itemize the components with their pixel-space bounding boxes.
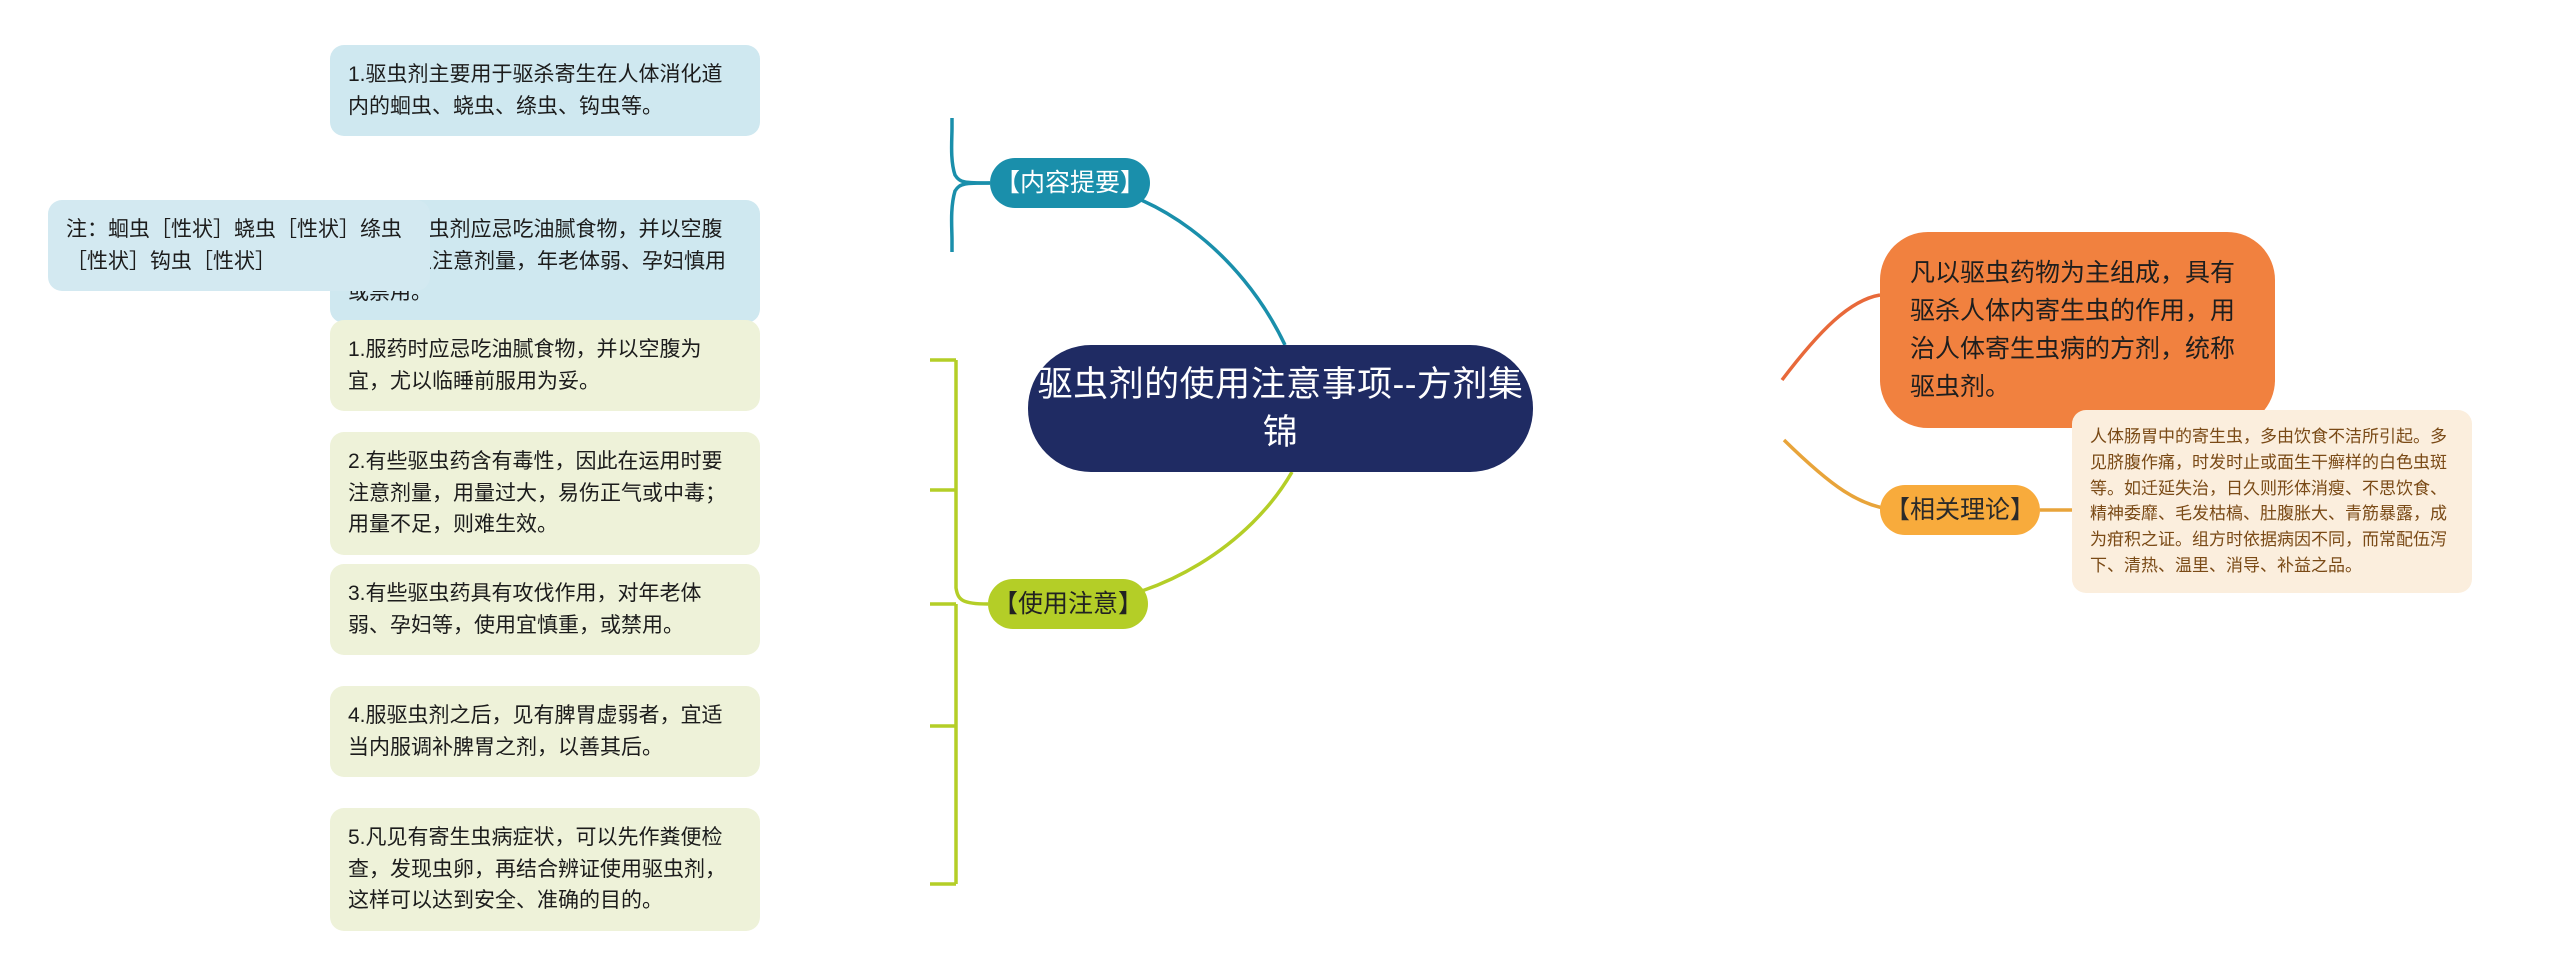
leaf-usage-note-3[interactable]: 3.有些驱虫药具有攻伐作用，对年老体弱、孕妇等，使用宜慎重，或禁用。 <box>330 564 760 655</box>
branch-node-content-summary[interactable]: 【内容提要】 <box>990 158 1150 208</box>
leaf-usage-note-4[interactable]: 4.服驱虫剂之后，见有脾胃虚弱者，宜适当内服调补脾胃之剂，以善其后。 <box>330 686 760 777</box>
mindmap-canvas: 驱虫剂的使用注意事项--方剂集锦 【内容提要】 1.驱虫剂主要用于驱杀寄生在人体… <box>0 0 2560 975</box>
root-node[interactable]: 驱虫剂的使用注意事项--方剂集锦 <box>1028 345 1533 472</box>
leaf-related-theory-text[interactable]: 人体肠胃中的寄生虫，多由饮食不洁所引起。多见脐腹作痛，时发时止或面生干癣样的白色… <box>2072 410 2472 593</box>
leaf-usage-note-2[interactable]: 2.有些驱虫药含有毒性，因此在运用时要注意剂量，用量过大，易伤正气或中毒；用量不… <box>330 432 760 555</box>
leaf-content-summary-1[interactable]: 1.驱虫剂主要用于驱杀寄生在人体消化道内的蛔虫、蛲虫、绦虫、钩虫等。 <box>330 45 760 136</box>
leaf-usage-note-5[interactable]: 5.凡见有寄生虫病症状，可以先作粪便检查，发现虫卵，再结合辨证使用驱虫剂，这样可… <box>330 808 760 931</box>
leaf-content-summary-note[interactable]: 注：蛔虫［性状］蛲虫［性状］绦虫［性状］钩虫［性状］ <box>48 200 430 291</box>
leaf-usage-note-1[interactable]: 1.服药时应忌吃油腻食物，并以空腹为宜，尤以临睡前服用为妥。 <box>330 320 760 411</box>
branch-node-related-theory[interactable]: 【相关理论】 <box>1880 485 2040 535</box>
definition-bubble[interactable]: 凡以驱虫药物为主组成，具有驱杀人体内寄生虫的作用，用治人体寄生虫病的方剂，统称驱… <box>1880 232 2275 428</box>
branch-node-usage-notes[interactable]: 【使用注意】 <box>988 579 1148 629</box>
